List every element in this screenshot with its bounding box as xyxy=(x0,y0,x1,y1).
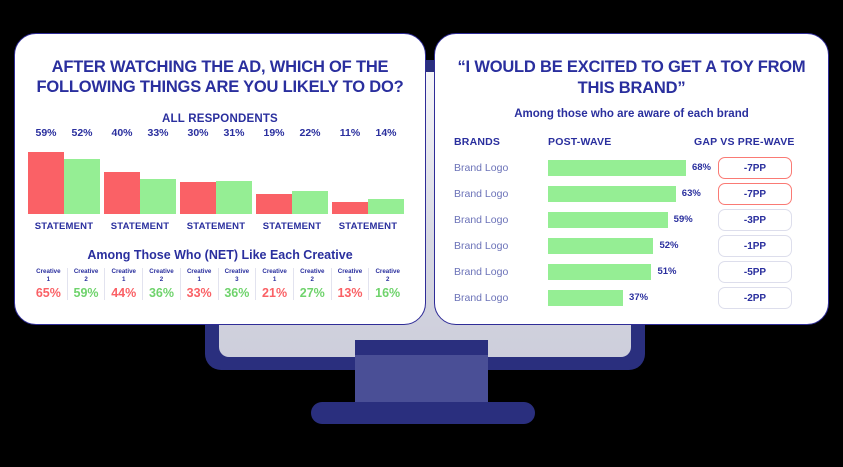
net-cell-label: Creative xyxy=(257,268,292,276)
net-cell-index: 1 xyxy=(106,276,141,284)
post-wave-value-label: 68% xyxy=(692,162,711,173)
net-table-cell: Creative216% xyxy=(368,268,406,300)
bar-value-label: 59% xyxy=(28,127,64,139)
net-table-cell: Creative165% xyxy=(30,268,67,300)
right-panel-title: “I WOULD BE EXCITED TO GET A TOY FROM TH… xyxy=(448,57,815,99)
gap-badge[interactable]: -5PP xyxy=(718,261,792,283)
chart-bar[interactable] xyxy=(28,152,64,214)
net-cell-value: 16% xyxy=(370,286,405,300)
net-cell-label: Creative xyxy=(295,268,330,276)
post-wave-value-label: 59% xyxy=(674,214,693,225)
monitor-neck xyxy=(355,355,488,403)
post-wave-bar[interactable] xyxy=(548,264,651,280)
chart-bar[interactable] xyxy=(292,191,328,214)
net-table-cell: Creative259% xyxy=(67,268,105,300)
bar-group: 30%31% xyxy=(180,140,252,214)
post-wave-bar[interactable] xyxy=(548,160,686,176)
chart-bar[interactable] xyxy=(180,182,216,214)
chart-bar[interactable] xyxy=(256,194,292,214)
table-row[interactable]: Brand Logo59%-3PP xyxy=(454,209,816,235)
respondents-bar-chart: 59%52%STATEMENT40%33%STATEMENT30%31%STAT… xyxy=(28,140,408,232)
brand-logo-label: Brand Logo xyxy=(454,266,508,278)
post-wave-value-label: 51% xyxy=(657,266,676,277)
net-cell-label: Creative xyxy=(220,268,255,276)
net-table-cell: Creative113% xyxy=(331,268,369,300)
table-row[interactable]: Brand Logo63%-7PP xyxy=(454,183,816,209)
chart-bar[interactable] xyxy=(216,181,252,214)
net-cell-value: 36% xyxy=(144,286,179,300)
net-cell-value: 13% xyxy=(333,286,368,300)
gap-badge[interactable]: -2PP xyxy=(718,287,792,309)
bar-value-label: 22% xyxy=(292,127,328,139)
brand-logo-label: Brand Logo xyxy=(454,188,508,200)
bar-wrapper: 14% xyxy=(368,140,404,214)
net-cell-index: 2 xyxy=(295,276,330,284)
bar-value-label: 52% xyxy=(64,127,100,139)
net-cell-index: 3 xyxy=(220,276,255,284)
net-cell-index: 2 xyxy=(370,276,405,284)
chart-bar[interactable] xyxy=(104,172,140,214)
net-cell-index: 1 xyxy=(257,276,292,284)
statement-label: STATEMENT xyxy=(256,221,328,232)
net-cell-index: 1 xyxy=(31,276,66,284)
bar-value-label: 33% xyxy=(140,127,176,139)
bar-wrapper: 59% xyxy=(28,140,64,214)
screenshot-root: AFTER WATCHING THE AD, WHICH OF THE FOLL… xyxy=(0,0,843,467)
post-wave-value-label: 37% xyxy=(629,292,648,303)
net-cell-label: Creative xyxy=(106,268,141,276)
net-cell-value: 21% xyxy=(257,286,292,300)
brand-logo-label: Brand Logo xyxy=(454,240,508,252)
brand-logo-label: Brand Logo xyxy=(454,292,508,304)
left-panel-subtitle: ALL RESPONDENTS xyxy=(22,113,418,125)
net-cell-label: Creative xyxy=(333,268,368,276)
statement-label: STATEMENT xyxy=(28,221,100,232)
chart-bar[interactable] xyxy=(368,199,404,214)
post-wave-bar[interactable] xyxy=(548,212,668,228)
table-row[interactable]: Brand Logo52%-1PP xyxy=(454,235,816,261)
net-creative-table: Creative165%Creative259%Creative144%Crea… xyxy=(30,268,406,300)
monitor-base xyxy=(311,402,535,424)
bar-wrapper: 11% xyxy=(332,140,368,214)
net-table-cell: Creative236% xyxy=(142,268,180,300)
table-row[interactable]: Brand Logo51%-5PP xyxy=(454,261,816,287)
bar-value-label: 30% xyxy=(180,127,216,139)
net-cell-index: 2 xyxy=(144,276,179,284)
left-panel-title: AFTER WATCHING THE AD, WHICH OF THE FOLL… xyxy=(22,57,418,97)
net-cell-index: 1 xyxy=(333,276,368,284)
net-cell-label: Creative xyxy=(31,268,66,276)
net-section-title: Among Those Who (NET) Like Each Creative xyxy=(22,248,418,262)
bar-wrapper: 40% xyxy=(104,140,140,214)
statement-label: STATEMENT xyxy=(180,221,252,232)
net-cell-value: 59% xyxy=(69,286,104,300)
net-table-cell: Creative336% xyxy=(218,268,256,300)
gap-badge[interactable]: -1PP xyxy=(718,235,792,257)
gap-badge[interactable]: -7PP xyxy=(718,183,792,205)
net-cell-value: 36% xyxy=(220,286,255,300)
net-table-cell: Creative121% xyxy=(255,268,293,300)
net-cell-value: 33% xyxy=(182,286,217,300)
bar-value-label: 40% xyxy=(104,127,140,139)
bar-value-label: 19% xyxy=(256,127,292,139)
bar-wrapper: 22% xyxy=(292,140,328,214)
net-cell-label: Creative xyxy=(144,268,179,276)
net-cell-label: Creative xyxy=(370,268,405,276)
brand-logo-label: Brand Logo xyxy=(454,162,508,174)
net-cell-value: 44% xyxy=(106,286,141,300)
column-header-gap-vs-pre-wave: GAP VS PRE-WAVE xyxy=(694,136,795,148)
post-wave-bar[interactable] xyxy=(548,186,676,202)
net-table-cell: Creative227% xyxy=(293,268,331,300)
bar-value-label: 31% xyxy=(216,127,252,139)
chart-bar[interactable] xyxy=(140,179,176,214)
bar-wrapper: 31% xyxy=(216,140,252,214)
brand-logo-label: Brand Logo xyxy=(454,214,508,226)
bar-group: 11%14% xyxy=(332,140,404,214)
bar-wrapper: 33% xyxy=(140,140,176,214)
right-panel-subtitle: Among those who are aware of each brand xyxy=(448,108,815,120)
bar-value-label: 11% xyxy=(332,127,368,139)
gap-badge[interactable]: -3PP xyxy=(718,209,792,231)
statement-label: STATEMENT xyxy=(332,221,404,232)
statement-label: STATEMENT xyxy=(104,221,176,232)
chart-bar[interactable] xyxy=(64,159,100,214)
table-row[interactable]: Brand Logo37%-2PP xyxy=(454,287,816,313)
net-table-cell: Creative144% xyxy=(104,268,142,300)
table-row[interactable]: Brand Logo68%-7PP xyxy=(454,157,816,183)
chart-bar[interactable] xyxy=(332,202,368,214)
net-cell-index: 2 xyxy=(69,276,104,284)
bar-group: 19%22% xyxy=(256,140,328,214)
post-wave-value-label: 52% xyxy=(659,240,678,251)
bar-group: 59%52% xyxy=(28,140,100,214)
bar-wrapper: 19% xyxy=(256,140,292,214)
bar-wrapper: 30% xyxy=(180,140,216,214)
bar-value-label: 14% xyxy=(368,127,404,139)
net-cell-index: 1 xyxy=(182,276,217,284)
post-wave-bar[interactable] xyxy=(548,290,623,306)
net-cell-label: Creative xyxy=(182,268,217,276)
post-wave-value-label: 63% xyxy=(682,188,701,199)
net-table-cell: Creative133% xyxy=(180,268,218,300)
net-cell-value: 27% xyxy=(295,286,330,300)
column-header-post-wave: POST-WAVE xyxy=(548,136,611,148)
bar-wrapper: 52% xyxy=(64,140,100,214)
net-cell-value: 65% xyxy=(31,286,66,300)
gap-badge[interactable]: -7PP xyxy=(718,157,792,179)
column-header-brands: BRANDS xyxy=(454,136,500,148)
bar-group: 40%33% xyxy=(104,140,176,214)
net-cell-label: Creative xyxy=(69,268,104,276)
post-wave-bar[interactable] xyxy=(548,238,653,254)
